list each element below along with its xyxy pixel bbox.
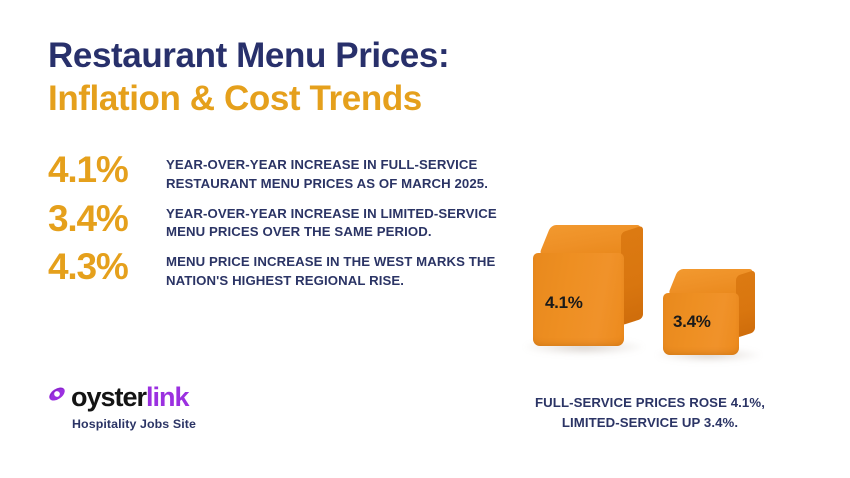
page-title: Restaurant Menu Prices: Inflation & Cost…	[48, 36, 518, 119]
title-line-primary: Restaurant Menu Prices:	[48, 36, 518, 77]
logo-word-primary: oyster	[71, 384, 146, 411]
stat-item-west-region: 4.3% MENU PRICE INCREASE IN THE WEST MAR…	[48, 252, 518, 290]
stat-value: 4.1%	[48, 151, 166, 188]
stat-description: YEAR-OVER-YEAR INCREASE IN FULL-SERVICE …	[166, 155, 518, 193]
bar-value-label: 3.4%	[673, 312, 711, 332]
stat-description: YEAR-OVER-YEAR INCREASE IN LIMITED-SERVI…	[166, 204, 518, 242]
oyster-shell-icon	[46, 383, 68, 405]
stat-value: 4.3%	[48, 248, 166, 285]
bar-chart-3d: 4.1% 3.4%	[500, 215, 800, 390]
logo-word-accent: link	[146, 384, 189, 411]
chart-caption-line-2: LIMITED-SERVICE UP 3.4%.	[500, 413, 800, 433]
bar-value-label: 4.1%	[545, 293, 583, 313]
left-content-column: Restaurant Menu Prices: Inflation & Cost…	[48, 36, 518, 301]
stat-item-limited-service: 3.4% YEAR-OVER-YEAR INCREASE IN LIMITED-…	[48, 204, 518, 242]
stat-description: MENU PRICE INCREASE IN THE WEST MARKS TH…	[166, 252, 518, 290]
chart-caption: FULL-SERVICE PRICES ROSE 4.1%, LIMITED-S…	[500, 393, 800, 434]
brand-logo[interactable]: oyster link Hospitality Jobs Site	[46, 382, 256, 431]
chart-caption-line-1: FULL-SERVICE PRICES ROSE 4.1%,	[500, 393, 800, 413]
stat-item-full-service: 4.1% YEAR-OVER-YEAR INCREASE IN FULL-SER…	[48, 155, 518, 193]
logo-wordmark-row: oyster link	[46, 382, 256, 412]
infographic-poster: Restaurant Menu Prices: Inflation & Cost…	[0, 0, 850, 478]
bar-side-face	[621, 225, 643, 325]
stat-value: 3.4%	[48, 200, 166, 237]
title-line-secondary: Inflation & Cost Trends	[48, 79, 518, 120]
bar-full-service: 4.1%	[533, 253, 624, 346]
bar-limited-service: 3.4%	[663, 293, 739, 355]
logo-tagline: Hospitality Jobs Site	[72, 417, 256, 431]
statistics-list: 4.1% YEAR-OVER-YEAR INCREASE IN FULL-SER…	[48, 155, 518, 290]
